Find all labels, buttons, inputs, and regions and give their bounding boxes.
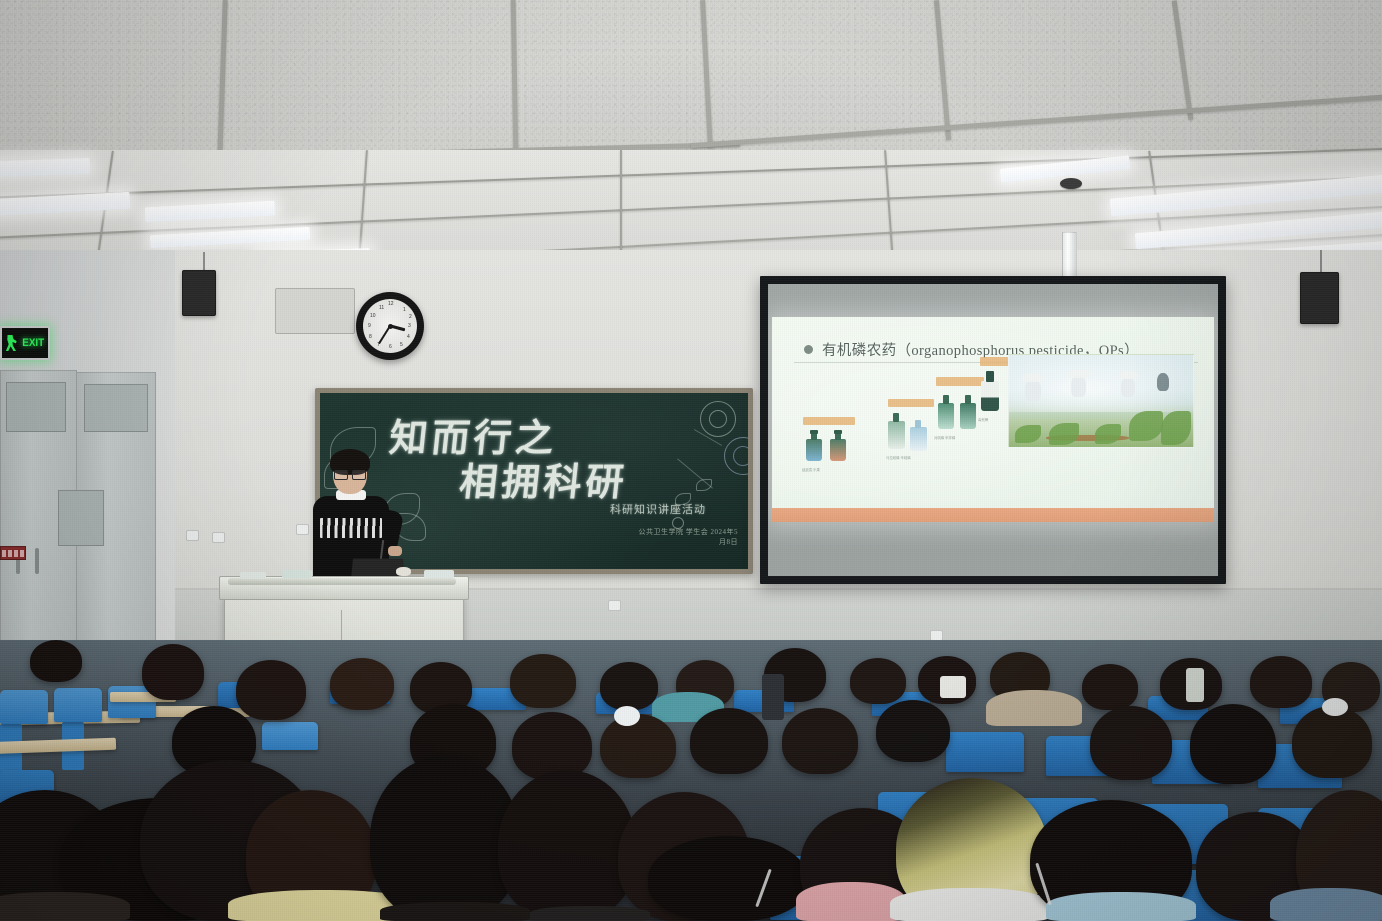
clock-numeral: 1 bbox=[403, 307, 406, 313]
clock-numeral: 9 bbox=[368, 323, 371, 329]
straw-hat-icon bbox=[1118, 371, 1138, 379]
blackboard-subtitle: 科研知识讲座活动 bbox=[610, 501, 706, 517]
exit-sign-label: EXIT bbox=[22, 337, 44, 349]
audience-seating bbox=[0, 640, 1382, 921]
chalk-flower-icon bbox=[709, 410, 727, 428]
crop-plant-icon bbox=[1129, 411, 1163, 441]
farm-worker bbox=[1071, 375, 1086, 397]
wall-clock: 12 3 6 9 1 2 4 5 7 8 10 11 bbox=[356, 292, 424, 360]
screen-surface: 有机磷农药（organophosphorus pesticide，OPs） 敌敌… bbox=[768, 284, 1218, 576]
product-caption: 敌敌畏 乐果 bbox=[802, 467, 820, 472]
projection-screen: 有机磷农药（organophosphorus pesticide，OPs） 敌敌… bbox=[760, 276, 1226, 584]
clock-center-pin bbox=[388, 324, 393, 329]
lecture-seat[interactable] bbox=[946, 732, 1024, 772]
slide-product-group: 敌敌畏 乐果 bbox=[800, 417, 858, 483]
presenter-hand bbox=[388, 546, 402, 556]
blackboard-credit: 公共卫生学院 学生会 2024年5月8日 bbox=[638, 527, 738, 547]
wall-seam bbox=[0, 588, 1382, 590]
pesticide-spraying-photo bbox=[1008, 354, 1194, 448]
desk-paper bbox=[282, 570, 312, 578]
speaker-wire bbox=[203, 252, 205, 270]
student-head bbox=[600, 714, 676, 778]
wall-outlet[interactable] bbox=[212, 532, 225, 543]
bottle-cap bbox=[834, 430, 842, 434]
student-head bbox=[330, 658, 394, 710]
student-head bbox=[876, 700, 950, 762]
product-tag bbox=[888, 399, 934, 407]
clock-numeral: 2 bbox=[409, 314, 412, 320]
lecture-seat[interactable] bbox=[262, 722, 318, 750]
straw-hat-icon bbox=[1022, 373, 1043, 382]
door-window bbox=[84, 384, 148, 432]
clock-numeral: 8 bbox=[369, 334, 372, 340]
student-head bbox=[600, 662, 658, 710]
bottle-neck bbox=[943, 395, 949, 404]
bottle-neck bbox=[986, 371, 994, 382]
clock-numeral: 10 bbox=[370, 313, 376, 319]
smoke-detector-icon bbox=[1060, 178, 1082, 189]
student-head bbox=[236, 660, 306, 720]
clock-numeral: 3 bbox=[408, 323, 411, 329]
pesticide-bottle-icon bbox=[830, 439, 846, 461]
pesticide-bottle-icon bbox=[888, 421, 905, 449]
crop-plant-icon bbox=[1049, 423, 1079, 445]
pesticide-bottle-icon bbox=[806, 439, 822, 461]
crop-plant-icon bbox=[1095, 424, 1121, 444]
sweater-stripe-pattern bbox=[320, 518, 382, 538]
clock-numeral: 5 bbox=[400, 342, 403, 348]
student-head bbox=[850, 658, 906, 704]
product-caption: 马拉硫磷 辛硫磷 bbox=[886, 455, 911, 460]
pesticide-bottle-icon bbox=[981, 381, 999, 411]
pesticide-bottle-icon bbox=[960, 403, 976, 429]
door-window bbox=[6, 382, 66, 432]
wall-outlet[interactable] bbox=[608, 600, 621, 611]
student-head bbox=[690, 708, 768, 774]
water-bottle bbox=[1186, 668, 1204, 702]
student-shoulder bbox=[890, 888, 1050, 921]
door-notice-sign bbox=[0, 546, 26, 560]
clock-numeral: 11 bbox=[379, 305, 384, 311]
bottle-neck bbox=[811, 433, 817, 440]
mouse[interactable] bbox=[396, 567, 411, 576]
student-shoulder bbox=[986, 690, 1082, 726]
bullet-dot-icon bbox=[804, 345, 813, 354]
bottle-neck bbox=[965, 395, 971, 404]
product-caption: 毒死蜱 bbox=[978, 417, 988, 422]
farm-worker bbox=[1025, 379, 1041, 401]
student-shoulder bbox=[380, 902, 530, 921]
clock-face: 12 3 6 9 1 2 4 5 7 8 10 11 bbox=[363, 299, 417, 353]
student-head bbox=[1082, 664, 1138, 710]
student-shoulder bbox=[1270, 888, 1382, 921]
emergency-exit-sign: EXIT bbox=[0, 326, 50, 360]
student-head bbox=[512, 712, 592, 780]
student-head-front bbox=[648, 836, 808, 921]
running-man-exit-icon bbox=[5, 335, 19, 351]
door-window bbox=[58, 490, 104, 546]
bottle-neck bbox=[835, 433, 841, 440]
farm-worker bbox=[1121, 377, 1135, 397]
student-desk bbox=[0, 738, 116, 755]
straw-hat-icon bbox=[1068, 369, 1089, 378]
clock-numeral: 4 bbox=[407, 334, 410, 340]
bottle-neck bbox=[915, 420, 921, 428]
desk-paper bbox=[424, 570, 454, 578]
product-tag bbox=[803, 417, 855, 425]
wall-panel bbox=[275, 288, 355, 334]
white-scrunchie-icon bbox=[614, 706, 640, 726]
student-head-front bbox=[498, 770, 636, 921]
pesticide-bottle-icon bbox=[938, 403, 954, 429]
ceiling-rail bbox=[0, 146, 1382, 199]
speaker-wire bbox=[1320, 250, 1322, 274]
chalk-flower-icon bbox=[733, 446, 748, 466]
bottle-cap bbox=[810, 430, 818, 434]
crop-plant-icon bbox=[1015, 425, 1041, 443]
slide-footer-bar bbox=[772, 508, 1214, 522]
student-head bbox=[1090, 706, 1172, 780]
student-head bbox=[142, 644, 204, 700]
clock-numeral: 6 bbox=[389, 344, 392, 350]
crop-plant-icon bbox=[1161, 411, 1191, 445]
bottle-neck bbox=[893, 413, 899, 422]
product-caption: 对硫磷 甲拌磷 bbox=[934, 435, 955, 440]
student-shoulder bbox=[1046, 892, 1196, 921]
product-tag bbox=[980, 357, 1010, 366]
presentation-slide: 有机磷农药（organophosphorus pesticide，OPs） 敌敌… bbox=[772, 317, 1214, 522]
wall-speaker-left bbox=[182, 270, 216, 316]
pesticide-bottle-icon bbox=[910, 427, 927, 451]
student-head bbox=[510, 654, 576, 708]
student-shoulder bbox=[0, 892, 130, 921]
water-bottle bbox=[940, 676, 966, 698]
desk-paper bbox=[240, 572, 266, 579]
clock-numeral: 12 bbox=[388, 301, 394, 307]
wall-outlet[interactable] bbox=[186, 530, 199, 541]
white-scrunchie-icon bbox=[1322, 698, 1348, 716]
student-head bbox=[30, 640, 82, 682]
student-head bbox=[1250, 656, 1312, 708]
student-head bbox=[1292, 706, 1372, 778]
student-shoulder bbox=[530, 906, 650, 921]
lecture-seat[interactable] bbox=[0, 690, 48, 724]
student-head bbox=[1190, 704, 1276, 784]
student-head bbox=[782, 708, 858, 774]
lecture-seat[interactable] bbox=[54, 688, 102, 722]
glasses-icon bbox=[334, 470, 366, 478]
wall-speaker-right bbox=[1300, 272, 1339, 324]
door-handle[interactable] bbox=[35, 548, 39, 574]
water-bottle bbox=[762, 674, 784, 720]
podium-rail bbox=[228, 578, 456, 585]
farm-worker bbox=[1157, 373, 1169, 391]
blackboard-title-line2: 相拥科研 bbox=[457, 451, 631, 506]
lecture-hall-photo: EXIT 知而行之 相拥科研 bbox=[0, 0, 1382, 921]
